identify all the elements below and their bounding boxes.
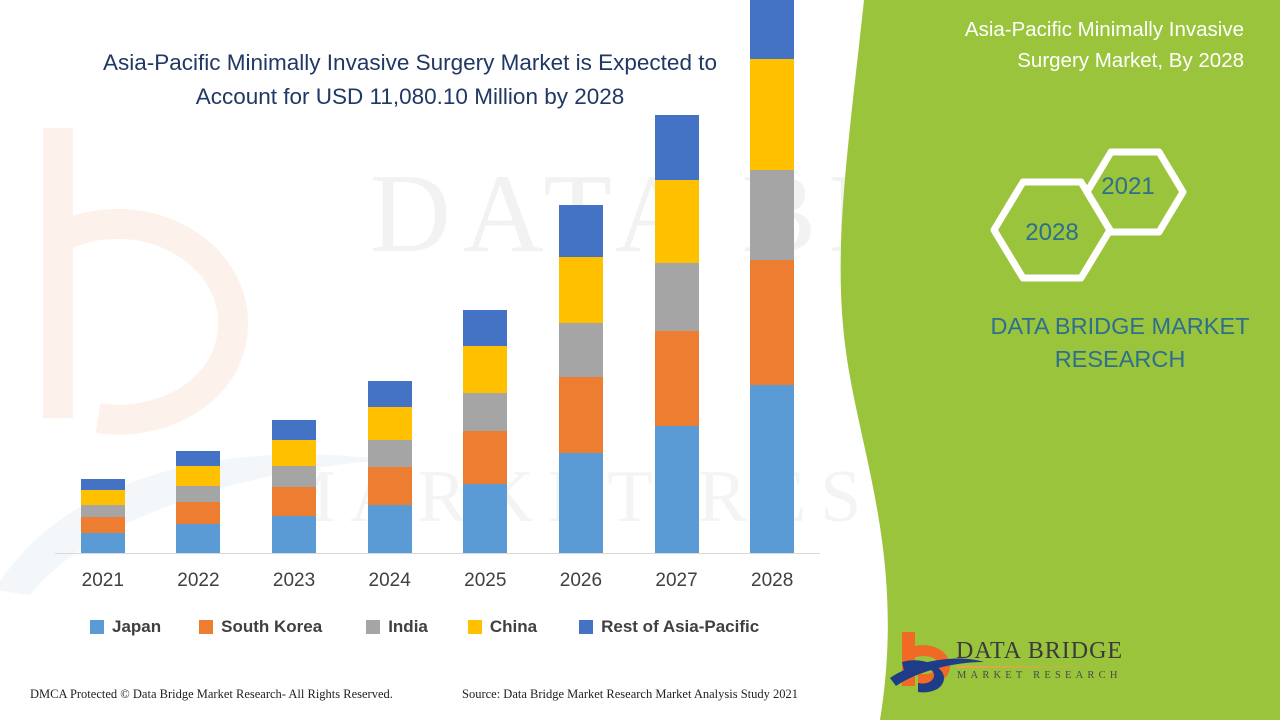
bar-stack-2025[interactable] [463,310,507,554]
bar-stack-2028[interactable] [750,0,794,554]
bar-segment-japan[interactable] [463,484,507,554]
bar-segment-rest-of-asia-pacific[interactable] [81,479,125,490]
bar-segment-rest-of-asia-pacific[interactable] [463,310,507,346]
bar-segment-south-korea[interactable] [559,377,603,453]
hexagon-label-2028: 2028 [1007,219,1097,247]
bar-segment-india[interactable] [750,170,794,260]
x-axis-label-2026: 2026 [533,570,629,592]
brand-name-text: DATA BRIDGE MARKET RESEARCH [960,310,1280,376]
legend-label: Japan [112,617,161,637]
bar-stack-2021[interactable] [81,479,125,554]
bar-segment-india[interactable] [272,466,316,487]
legend-item-china[interactable]: China [468,617,537,637]
logo-text-main: DATA BRIDGE [956,638,1123,665]
bar-segment-china[interactable] [272,440,316,466]
bar-segment-south-korea[interactable] [655,331,699,426]
bar-segment-south-korea[interactable] [368,467,412,505]
bar-segment-rest-of-asia-pacific[interactable] [559,205,603,257]
x-axis-label-2028: 2028 [724,570,820,592]
bar-segment-japan[interactable] [81,533,125,554]
legend-label: China [490,617,537,637]
x-axis-label-2025: 2025 [437,570,533,592]
bar-segment-china[interactable] [81,490,125,505]
bar-segment-japan[interactable] [750,385,794,554]
bar-segment-china[interactable] [559,257,603,323]
bar-stack-2022[interactable] [176,451,220,554]
bar-segment-japan[interactable] [559,453,603,554]
bar-segment-rest-of-asia-pacific[interactable] [272,420,316,440]
bar-segment-china[interactable] [750,59,794,170]
footer-source-text: Source: Data Bridge Market Research Mark… [462,687,798,702]
bar-stack-2023[interactable] [272,420,316,554]
legend-swatch-icon [579,620,593,634]
bar-stack-2026[interactable] [559,205,603,554]
bar-segment-china[interactable] [655,180,699,263]
legend-swatch-icon [366,620,380,634]
legend-item-south-korea[interactable]: South Korea [199,617,322,637]
bar-segment-japan[interactable] [655,426,699,554]
legend-label: India [388,617,428,637]
legend-swatch-icon [90,620,104,634]
bar-segment-china[interactable] [368,407,412,440]
x-axis-label-2027: 2027 [629,570,725,592]
bar-segment-india[interactable] [655,263,699,331]
hexagon-label-2021: 2021 [1083,173,1173,201]
bar-segment-japan[interactable] [176,524,220,554]
chart-legend: JapanSouth KoreaIndiaChinaRest of Asia-P… [90,617,759,637]
bar-segment-japan[interactable] [272,516,316,554]
bar-segment-japan[interactable] [368,505,412,554]
legend-swatch-icon [199,620,213,634]
bar-segment-rest-of-asia-pacific[interactable] [368,381,412,407]
infographic-root: DATA BRIDGE MARKET RESEARCH Asia-Pacific… [0,0,1280,720]
legend-item-rest-of-asia-pacific[interactable]: Rest of Asia-Pacific [579,617,759,637]
legend-label: Rest of Asia-Pacific [601,617,759,637]
x-axis-baseline [55,553,820,554]
bar-segment-rest-of-asia-pacific[interactable] [655,115,699,180]
bar-segment-china[interactable] [176,466,220,486]
bar-segment-south-korea[interactable] [81,517,125,533]
x-axis-label-2024: 2024 [342,570,438,592]
logo-divider [957,666,1095,668]
bar-segment-south-korea[interactable] [176,502,220,524]
bar-segment-south-korea[interactable] [463,431,507,484]
legend-label: South Korea [221,617,322,637]
bar-segment-china[interactable] [463,346,507,393]
bar-segment-south-korea[interactable] [272,487,316,516]
x-axis-label-2023: 2023 [246,570,342,592]
page-title: Asia-Pacific Minimally Invasive Surgery … [60,46,760,114]
legend-swatch-icon [468,620,482,634]
bar-segment-india[interactable] [368,440,412,467]
bar-segment-india[interactable] [559,323,603,377]
x-axis-label-2021: 2021 [55,570,151,592]
panel-title: Asia-Pacific Minimally Invasive Surgery … [914,14,1244,76]
x-axis-labels: 20212022202320242025202620272028 [55,570,820,602]
hexagon-pair-graphic [980,142,1200,292]
footer-dmca-text: DMCA Protected © Data Bridge Market Rese… [30,687,393,702]
bar-stack-2024[interactable] [368,381,412,554]
legend-item-japan[interactable]: Japan [90,617,161,637]
bar-segment-india[interactable] [81,505,125,517]
bar-chart-plot [55,160,820,554]
bar-segment-south-korea[interactable] [750,260,794,385]
x-axis-label-2022: 2022 [150,570,246,592]
bar-stack-2027[interactable] [655,115,699,554]
bar-segment-rest-of-asia-pacific[interactable] [176,451,220,466]
bar-segment-india[interactable] [176,486,220,502]
bar-segment-india[interactable] [463,393,507,431]
logo-text-sub: MARKET RESEARCH [957,670,1122,681]
bar-segment-rest-of-asia-pacific[interactable] [750,0,794,59]
legend-item-india[interactable]: India [366,617,428,637]
